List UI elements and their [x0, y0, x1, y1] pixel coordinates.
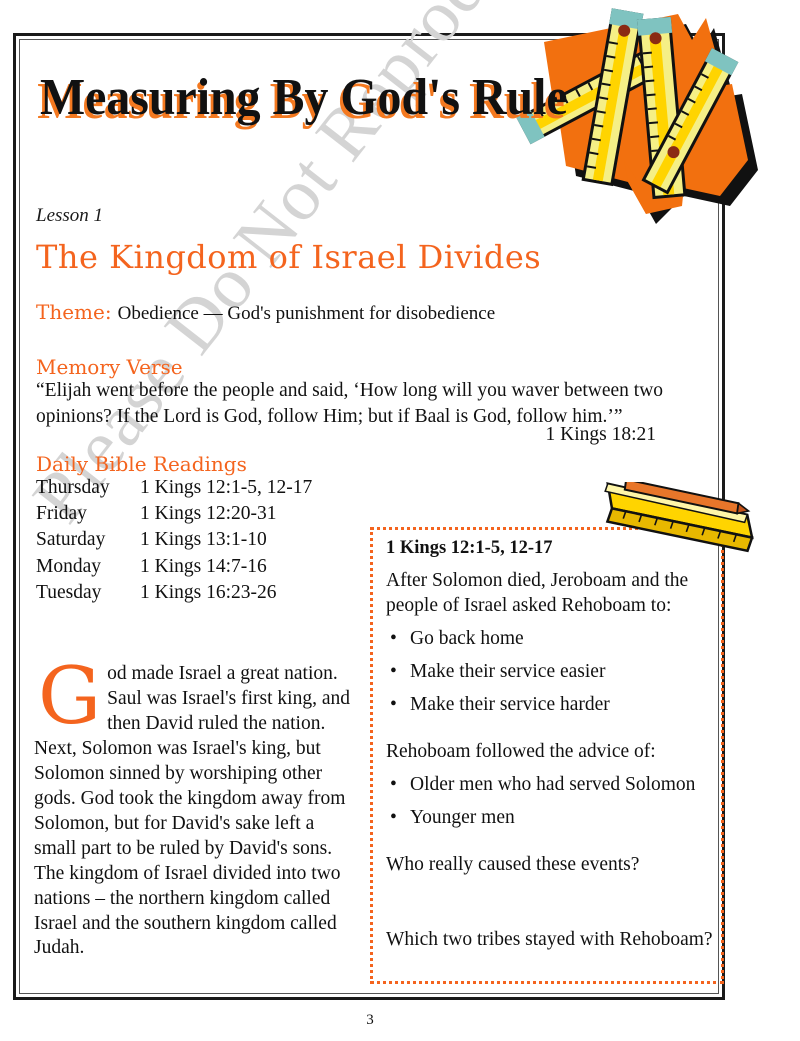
spacer — [386, 839, 716, 853]
lesson-page: Please Do Not Reproduce Measuring By God… — [0, 0, 800, 1041]
spacer — [386, 726, 716, 740]
reading-reference: 1 Kings 12:1-5, 12-17 — [140, 476, 312, 502]
list-item[interactable]: Older men who had served Solomon — [386, 773, 716, 798]
page-number: 3 — [0, 1012, 740, 1029]
daily-readings-heading: Daily Bible Readings — [36, 452, 247, 476]
banner-title: Measuring By God's Rule Measuring By God… — [40, 72, 614, 124]
memory-verse-text: “Elijah went before the people and said,… — [36, 378, 676, 429]
table-row: Saturday 1 Kings 13:1-10 — [36, 528, 312, 554]
lesson-label: Lesson 1 — [36, 205, 103, 227]
reading-reference: 1 Kings 13:1-10 — [140, 528, 312, 554]
theme-row: Theme:Obedience — God's punishment for d… — [36, 300, 495, 325]
reading-day: Tuesday — [36, 581, 140, 607]
page-title: The Kingdom of Israel Divides — [36, 238, 541, 276]
theme-label: Theme: — [36, 300, 112, 324]
advice-options-list: Older men who had served Solomon Younger… — [386, 773, 716, 831]
scripture-options-list: Go back home Make their service easier M… — [386, 627, 716, 718]
list-item[interactable]: Make their service harder — [386, 693, 716, 718]
reading-day: Thursday — [36, 476, 140, 502]
banner-title-text: Measuring By God's Rule — [40, 69, 568, 126]
advice-intro: Rehoboam followed the advice of: — [386, 740, 716, 765]
answer-space[interactable] — [386, 886, 716, 928]
ruler-pencil-clipart — [585, 482, 785, 602]
memory-verse-reference: 1 Kings 18:21 — [36, 424, 656, 446]
reading-reference: 1 Kings 16:23-26 — [140, 581, 312, 607]
memory-verse-heading: Memory Verse — [36, 355, 183, 379]
list-item[interactable]: Go back home — [386, 627, 716, 652]
question-one: Who really caused these events? — [386, 853, 716, 878]
table-row: Friday 1 Kings 12:20-31 — [36, 502, 312, 528]
theme-text: Obedience — God's punishment for disobed… — [118, 303, 496, 324]
list-item[interactable]: Make their service easier — [386, 660, 716, 685]
list-item[interactable]: Younger men — [386, 806, 716, 831]
lesson-body-paragraph: God made Israel a great nation. Saul was… — [34, 662, 352, 961]
question-two: Which two tribes stayed with Rehoboam? — [386, 928, 716, 953]
reading-reference: 1 Kings 14:7-16 — [140, 555, 312, 581]
reading-day: Saturday — [36, 528, 140, 554]
drop-cap: G — [34, 664, 105, 726]
table-row: Monday 1 Kings 14:7-16 — [36, 555, 312, 581]
reading-day: Friday — [36, 502, 140, 528]
reading-day: Monday — [36, 555, 140, 581]
table-row: Thursday 1 Kings 12:1-5, 12-17 — [36, 476, 312, 502]
table-row: Tuesday 1 Kings 16:23-26 — [36, 581, 312, 607]
daily-readings-table: Thursday 1 Kings 12:1-5, 12-17 Friday 1 … — [36, 476, 312, 607]
reading-reference: 1 Kings 12:20-31 — [140, 502, 312, 528]
